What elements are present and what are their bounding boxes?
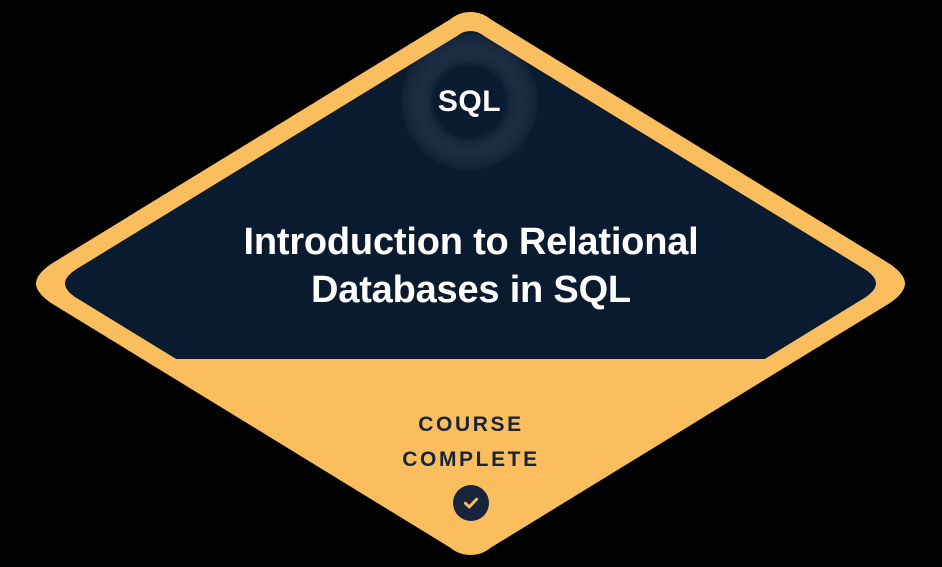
status-label: COURSE COMPLETE: [221, 407, 721, 477]
course-title-line-1: Introduction to Relational: [131, 218, 811, 266]
status-label-line-1: COURSE: [221, 407, 721, 442]
course-title-line-2: Databases in SQL: [131, 266, 811, 314]
check-circle-icon: [453, 485, 489, 521]
sql-circle-emblem: SQL: [401, 33, 538, 170]
course-completion-badge: SQL Introduction to Relational Databases…: [0, 0, 942, 567]
technology-label: SQL: [438, 87, 501, 117]
status-label-line-2: COMPLETE: [221, 442, 721, 477]
completion-status: COURSE COMPLETE: [221, 407, 721, 521]
course-title: Introduction to Relational Databases in …: [131, 218, 811, 314]
